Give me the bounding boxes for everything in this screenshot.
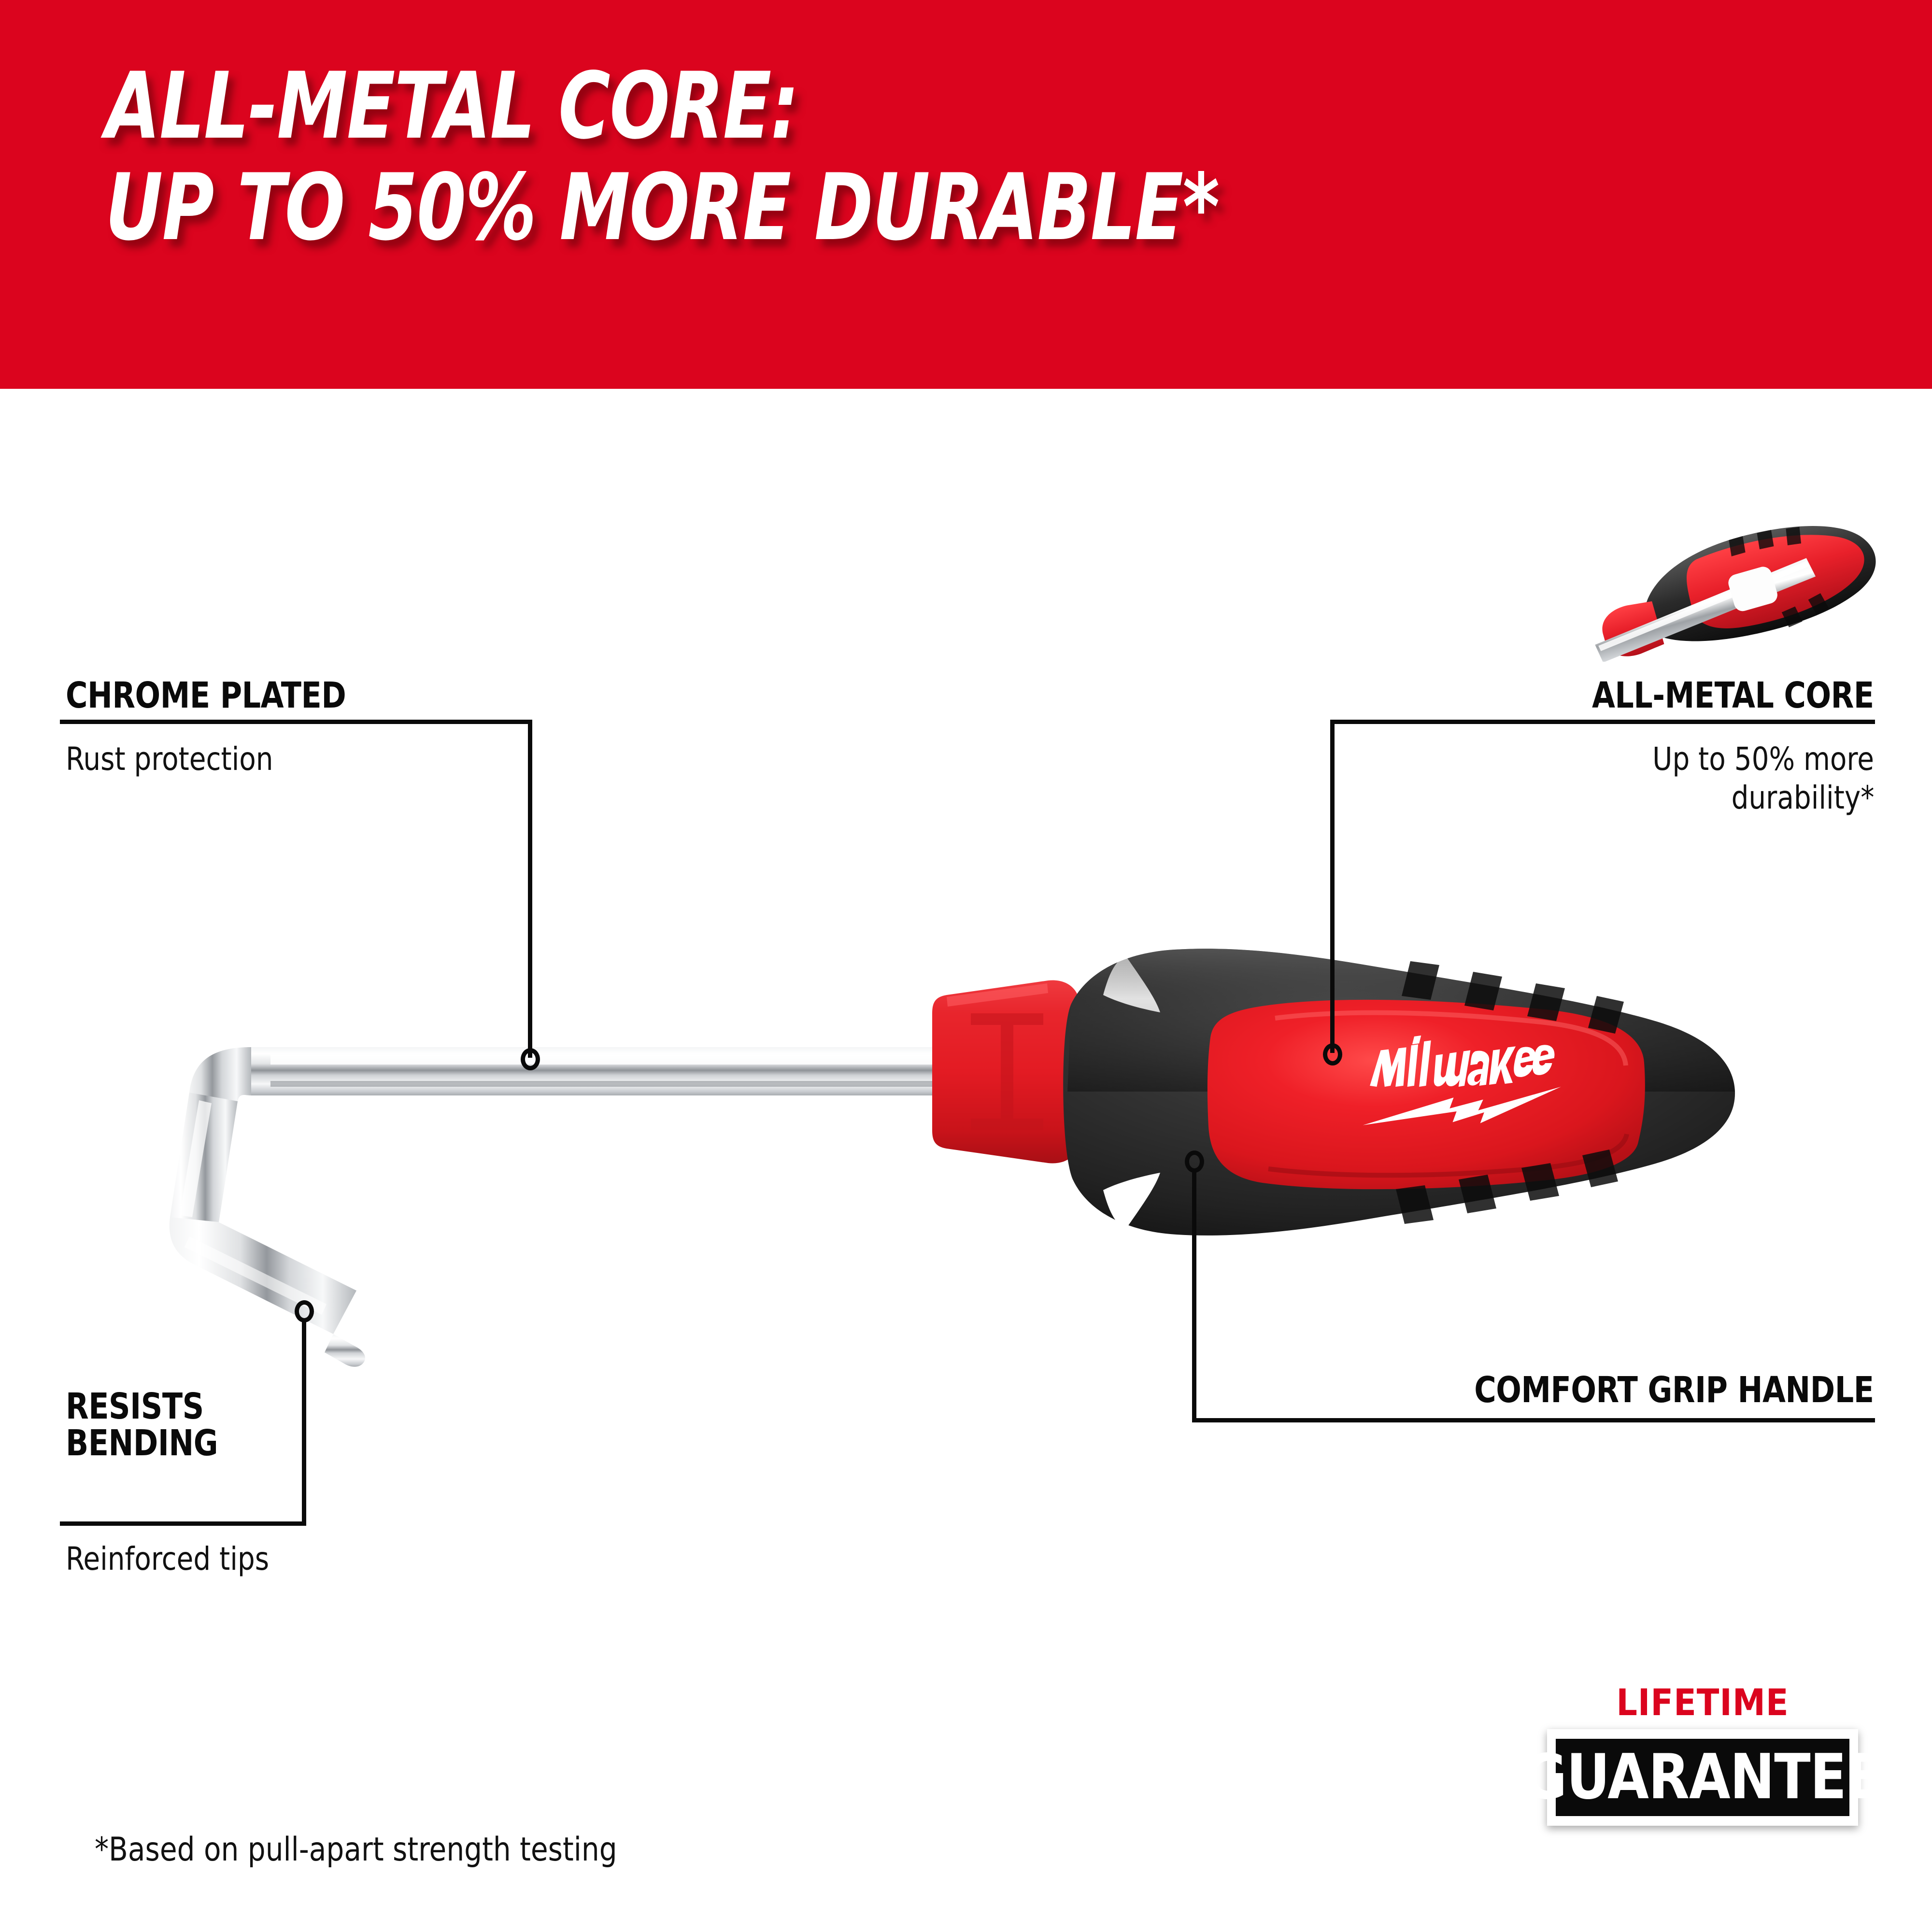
callout-endpoint-chrome-plated: [521, 1048, 540, 1070]
callout-leader-resists-bending: [302, 1320, 306, 1523]
all-metal-core-inset-image: [1584, 502, 1932, 662]
callout-rule-chrome-plated: [60, 720, 532, 724]
tool-shaft: [170, 1047, 947, 1367]
callout-rule-comfort-grip-handle: [1192, 1418, 1875, 1422]
badge-bar: GUARANTEE: [1556, 1739, 1849, 1816]
callout-title-chrome-plated: CHROME PLATED: [66, 676, 346, 715]
callout-body-chrome-plated: Rust protection: [66, 740, 273, 779]
callout-body-resists-bending: Reinforced tips: [66, 1540, 269, 1578]
footnote-text: *Based on pull-apart strength testing: [95, 1831, 617, 1869]
callout-title-comfort-grip-handle: COMFORT GRIP HANDLE: [1475, 1371, 1874, 1409]
infographic-canvas: ALL-METAL CORE: UP TO 50% MORE DURABLE*: [0, 0, 1932, 1932]
callout-title-all-metal-core: ALL-METAL CORE: [1592, 676, 1874, 715]
tool-handle: [1063, 949, 1735, 1236]
callout-endpoint-all-metal-core: [1323, 1043, 1342, 1065]
badge-bar-frame: GUARANTEE: [1547, 1729, 1858, 1826]
header-banner: ALL-METAL CORE: UP TO 50% MORE DURABLE*: [0, 0, 1932, 389]
callout-rule-all-metal-core: [1330, 720, 1875, 724]
callout-leader-all-metal-core: [1330, 720, 1335, 1053]
header-headline-line1: ALL-METAL CORE:: [105, 58, 798, 155]
callout-title-resists-bending-line1: RESISTS: [66, 1387, 204, 1426]
callout-title-resists-bending-line2: BENDING: [66, 1424, 218, 1463]
callout-leader-comfort-grip-handle: [1192, 1169, 1196, 1420]
tool-ferrule: [932, 980, 1080, 1164]
milwaukee-logo: [1363, 1036, 1561, 1125]
callout-leader-chrome-plated: [528, 720, 532, 1058]
badge-guarantee-text: GUARANTEE: [1523, 1747, 1882, 1808]
header-headline-line2: UP TO 50% MORE DURABLE*: [105, 159, 1219, 256]
badge-lifetime-text: LIFETIME: [1553, 1681, 1852, 1724]
callout-rule-resists-bending: [60, 1521, 306, 1526]
callout-endpoint-comfort-grip-handle: [1185, 1151, 1204, 1173]
callout-endpoint-resists-bending: [295, 1300, 314, 1322]
lifetime-guarantee-badge: LIFETIME GUARANTEE: [1553, 1608, 1852, 1879]
callout-body-all-metal-core-line2: durability*: [1731, 779, 1874, 817]
callout-body-all-metal-core-line1: Up to 50% more: [1652, 740, 1874, 779]
